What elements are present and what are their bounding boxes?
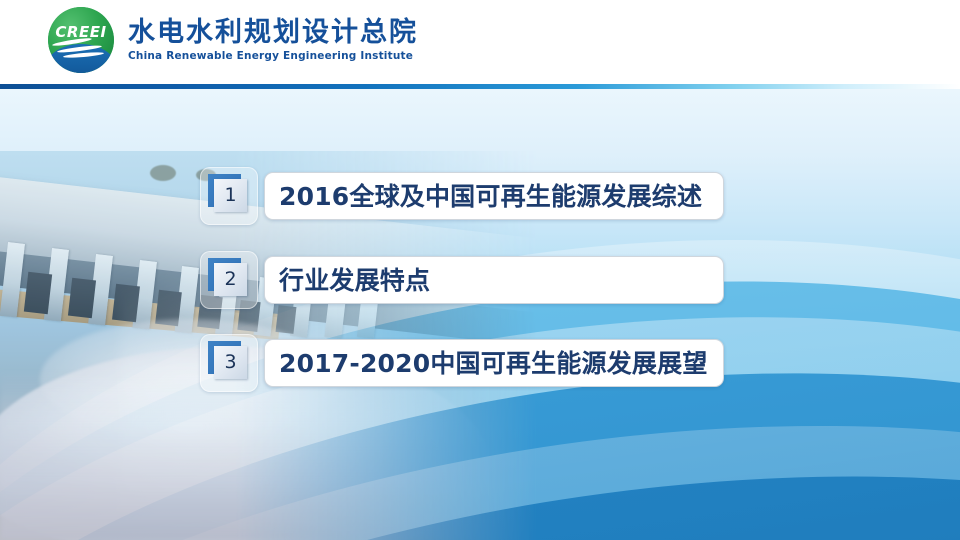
organization-logo: CREEI 水电水利规划设计总院 China Renewable Energy … bbox=[48, 7, 418, 73]
organization-name-en: China Renewable Energy Engineering Insti… bbox=[128, 50, 418, 62]
organization-name-cn: 水电水利规划设计总院 bbox=[128, 18, 418, 48]
agenda-number-badge-3: 3 bbox=[200, 334, 258, 392]
agenda-item-label-1: 2016全球及中国可再生能源发展综述 bbox=[279, 184, 702, 209]
badge-number: 3 bbox=[214, 346, 247, 379]
agenda-item-label-2: 行业发展特点 bbox=[279, 268, 430, 293]
agenda-number-badge-1: 1 bbox=[200, 167, 258, 225]
agenda-item-1[interactable]: 1 2016全球及中国可再生能源发展综述 bbox=[200, 167, 724, 225]
badge-number: 1 bbox=[214, 179, 247, 212]
agenda-item-pill-3[interactable]: 2017-2020中国可再生能源发展展望 bbox=[264, 339, 724, 387]
agenda-item-pill-1[interactable]: 2016全球及中国可再生能源发展综述 bbox=[264, 172, 724, 220]
agenda-item-pill-2[interactable]: 行业发展特点 bbox=[264, 256, 724, 304]
organization-name-block: 水电水利规划设计总院 China Renewable Energy Engine… bbox=[128, 18, 418, 62]
agenda-item-label-3: 2017-2020中国可再生能源发展展望 bbox=[279, 351, 708, 376]
header-divider-rule bbox=[0, 84, 960, 89]
agenda-number-badge-2: 2 bbox=[200, 251, 258, 309]
creei-logo-icon: CREEI bbox=[48, 7, 114, 73]
slide-canvas: CREEI 水电水利规划设计总院 China Renewable Energy … bbox=[0, 0, 960, 540]
agenda-item-3[interactable]: 3 2017-2020中国可再生能源发展展望 bbox=[200, 334, 724, 392]
logo-mark-text: CREEI bbox=[48, 25, 114, 40]
agenda-item-2[interactable]: 2 行业发展特点 bbox=[200, 251, 724, 309]
badge-number: 2 bbox=[214, 263, 247, 296]
